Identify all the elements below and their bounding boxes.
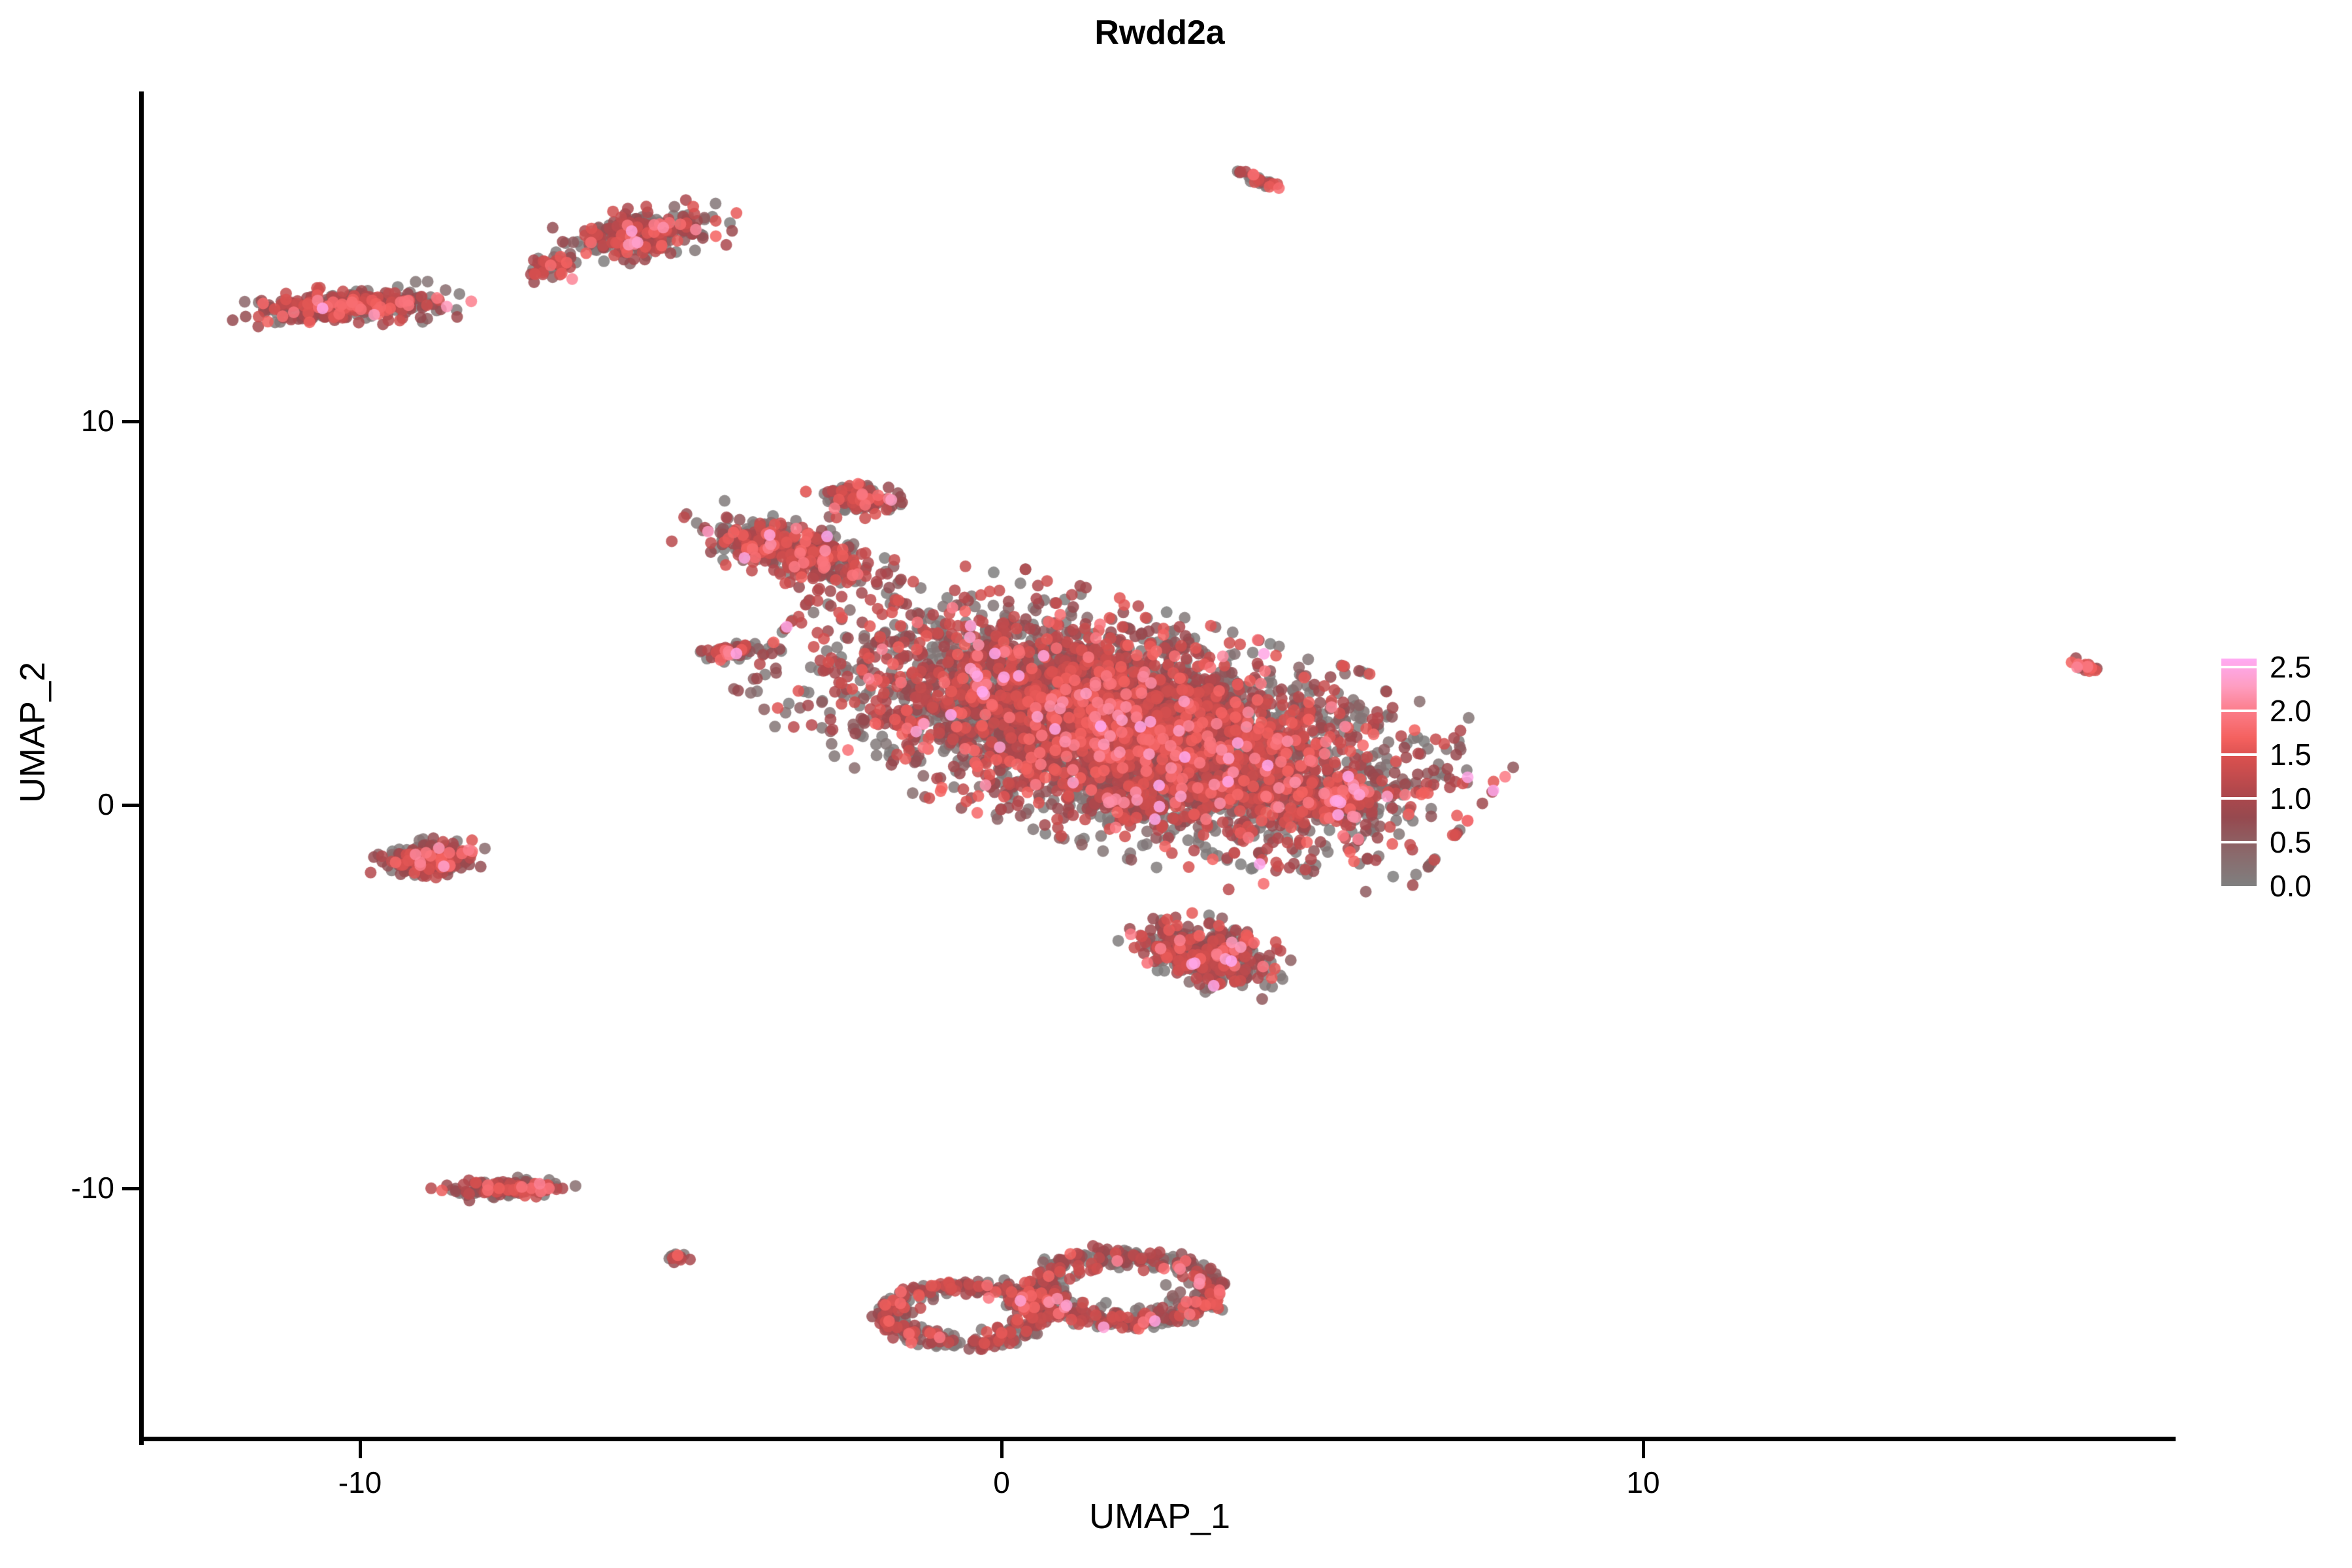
x-axis-label: UMAP_1 <box>144 1496 2176 1537</box>
legend-tick-mark <box>2221 666 2257 668</box>
legend-tick-label: 1.5 <box>2270 737 2311 772</box>
page-title: Rwdd2a <box>144 13 2176 52</box>
legend-tick-mark <box>2221 841 2257 843</box>
scatter-points-canvas <box>144 91 2176 1441</box>
legend-tick-label: 2.0 <box>2270 693 2311 728</box>
y-tick-mark <box>122 420 139 423</box>
x-axis-line <box>144 1437 2176 1441</box>
legend-tick-label: 0.0 <box>2270 868 2311 904</box>
plot-panel <box>144 91 2176 1441</box>
y-axis-label: UMAP_2 <box>12 536 53 928</box>
x-tick-mark <box>1000 1441 1004 1458</box>
legend-tick-mark <box>2221 753 2257 756</box>
y-axis-line <box>139 91 144 1445</box>
y-tick-mark <box>122 804 139 807</box>
y-tick-mark <box>122 1187 139 1190</box>
legend-tick-mark <box>2221 797 2257 800</box>
umap-feature-plot: Rwdd2a -10010 -10010 UMAP_2 UMAP_1 0.00.… <box>0 0 2352 1568</box>
x-tick-mark <box>1642 1441 1645 1458</box>
legend-tick-label: 2.5 <box>2270 649 2311 685</box>
legend-tick-label: 1.0 <box>2270 781 2311 816</box>
x-tick-mark <box>359 1441 362 1458</box>
legend-colorbar <box>2221 659 2257 886</box>
x-tick-label: -10 <box>338 1465 382 1500</box>
x-tick-label: 10 <box>1626 1465 1659 1500</box>
legend-tick-mark <box>2221 710 2257 712</box>
y-tick-label: 10 <box>0 403 114 438</box>
x-tick-label: 0 <box>993 1465 1010 1500</box>
legend-tick-label: 0.5 <box>2270 825 2311 860</box>
y-tick-label: -10 <box>0 1170 114 1205</box>
